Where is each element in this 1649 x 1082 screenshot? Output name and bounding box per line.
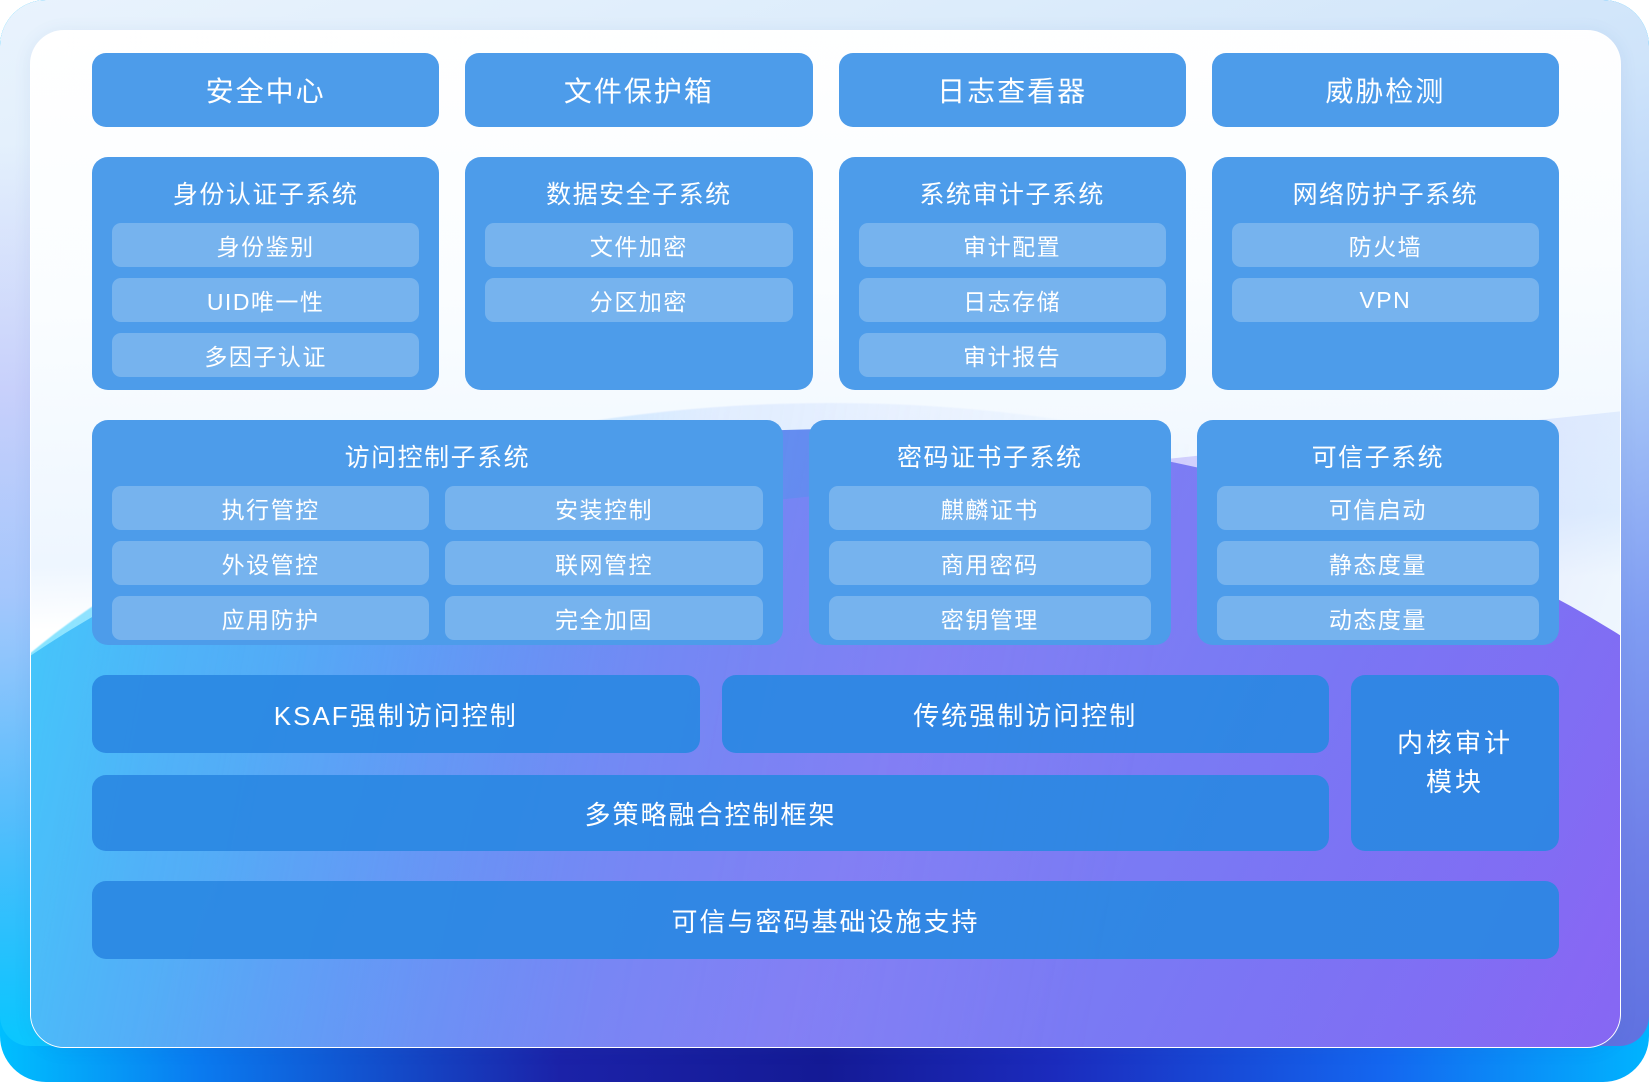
chip-execution-control[interactable]: 执行管控 [112, 486, 429, 530]
panel-identity-authentication: 身份认证子系统 身份鉴别 UID唯一性 多因子认证 [92, 157, 439, 390]
panel-title-trusted-subsystem: 可信子系统 [1217, 432, 1539, 486]
panel-network-protection: 网络防护子系统 防火墙 VPN [1212, 157, 1559, 390]
panel-items-crypto-certificate: 麒麟证书 商用密码 密钥管理 [829, 486, 1151, 640]
chip-static-measurement[interactable]: 静态度量 [1217, 541, 1539, 585]
chip-audit-report[interactable]: 审计报告 [859, 333, 1166, 377]
panel-items-identity-authentication: 身份鉴别 UID唯一性 多因子认证 [112, 223, 419, 377]
panel-title-system-audit: 系统审计子系统 [859, 169, 1166, 223]
chip-firewall[interactable]: 防火墙 [1232, 223, 1539, 267]
foundation-layer-row: 可信与密码基础设施支持 [92, 881, 1559, 959]
chip-peripheral-control[interactable]: 外设管控 [112, 541, 429, 585]
app-bar-security-center[interactable]: 安全中心 [92, 53, 439, 127]
chip-full-hardening[interactable]: 完全加固 [445, 596, 762, 640]
diagram-card: 安全中心 文件保护箱 日志查看器 威胁检测 身份认证子系统 身份鉴别 UID唯一… [30, 30, 1621, 1048]
chip-identity-verification[interactable]: 身份鉴别 [112, 223, 419, 267]
app-bar-threat-detection[interactable]: 威胁检测 [1212, 53, 1559, 127]
chip-partition-encryption[interactable]: 分区加密 [485, 278, 792, 322]
panel-access-control: 访问控制子系统 执行管控 安装控制 外设管控 联网管控 应用防护 完全加固 [92, 420, 783, 645]
chip-file-encryption[interactable]: 文件加密 [485, 223, 792, 267]
chip-key-management[interactable]: 密钥管理 [829, 596, 1151, 640]
bar-multi-policy-fusion-framework[interactable]: 多策略融合控制框架 [92, 775, 1329, 851]
architecture-diagram-canvas: 安全中心 文件保护箱 日志查看器 威胁检测 身份认证子系统 身份鉴别 UID唯一… [0, 0, 1649, 1082]
chip-dynamic-measurement[interactable]: 动态度量 [1217, 596, 1539, 640]
chip-kylin-certificate[interactable]: 麒麟证书 [829, 486, 1151, 530]
app-bar-file-protection-box[interactable]: 文件保护箱 [465, 53, 812, 127]
panel-title-crypto-certificate: 密码证书子系统 [829, 432, 1151, 486]
chip-audit-configuration[interactable]: 审计配置 [859, 223, 1166, 267]
panel-items-system-audit: 审计配置 日志存储 审计报告 [859, 223, 1166, 377]
bar-trusted-crypto-infrastructure[interactable]: 可信与密码基础设施支持 [92, 881, 1559, 959]
panel-items-access-control: 执行管控 安装控制 外设管控 联网管控 应用防护 完全加固 [112, 486, 763, 640]
panel-items-network-protection: 防火墙 VPN [1232, 223, 1539, 322]
application-layer-row: 安全中心 文件保护箱 日志查看器 威胁检测 [92, 53, 1559, 127]
chip-commercial-cryptography[interactable]: 商用密码 [829, 541, 1151, 585]
panel-items-data-security: 文件加密 分区加密 [485, 223, 792, 322]
app-bar-log-viewer[interactable]: 日志查看器 [839, 53, 1186, 127]
bar-traditional-mandatory-access-control[interactable]: 传统强制访问控制 [722, 675, 1330, 753]
chip-vpn[interactable]: VPN [1232, 278, 1539, 322]
chip-multi-factor-auth[interactable]: 多因子认证 [112, 333, 419, 377]
chip-log-storage[interactable]: 日志存储 [859, 278, 1166, 322]
chip-uid-uniqueness[interactable]: UID唯一性 [112, 278, 419, 322]
panel-crypto-certificate: 密码证书子系统 麒麟证书 商用密码 密钥管理 [809, 420, 1171, 645]
mac-left-group: KSAF强制访问控制 传统强制访问控制 多策略融合控制框架 [92, 675, 1329, 851]
panel-title-access-control: 访问控制子系统 [112, 432, 763, 486]
mac-top-group: KSAF强制访问控制 传统强制访问控制 [92, 675, 1329, 753]
control-layer-row: 访问控制子系统 执行管控 安装控制 外设管控 联网管控 应用防护 完全加固 密码… [92, 420, 1559, 645]
subsystem-layer-row: 身份认证子系统 身份鉴别 UID唯一性 多因子认证 数据安全子系统 文件加密 分… [92, 157, 1559, 390]
panel-title-identity-authentication: 身份认证子系统 [112, 169, 419, 223]
panel-title-data-security: 数据安全子系统 [485, 169, 792, 223]
bar-kernel-audit-module[interactable]: 内核审计模块 [1351, 675, 1559, 851]
panel-trusted-subsystem: 可信子系统 可信启动 静态度量 动态度量 [1197, 420, 1559, 645]
chip-network-access-control[interactable]: 联网管控 [445, 541, 762, 585]
bar-ksaf-mandatory-access-control[interactable]: KSAF强制访问控制 [92, 675, 700, 753]
panel-items-trusted-subsystem: 可信启动 静态度量 动态度量 [1217, 486, 1539, 640]
chip-installation-control[interactable]: 安装控制 [445, 486, 762, 530]
chip-application-protection[interactable]: 应用防护 [112, 596, 429, 640]
panel-title-network-protection: 网络防护子系统 [1232, 169, 1539, 223]
panel-system-audit: 系统审计子系统 审计配置 日志存储 审计报告 [839, 157, 1186, 390]
diagram-content: 安全中心 文件保护箱 日志查看器 威胁检测 身份认证子系统 身份鉴别 UID唯一… [92, 53, 1559, 959]
panel-data-security: 数据安全子系统 文件加密 分区加密 [465, 157, 812, 390]
mandatory-access-control-row: KSAF强制访问控制 传统强制访问控制 多策略融合控制框架 内核审计模块 [92, 675, 1559, 851]
chip-trusted-boot[interactable]: 可信启动 [1217, 486, 1539, 530]
